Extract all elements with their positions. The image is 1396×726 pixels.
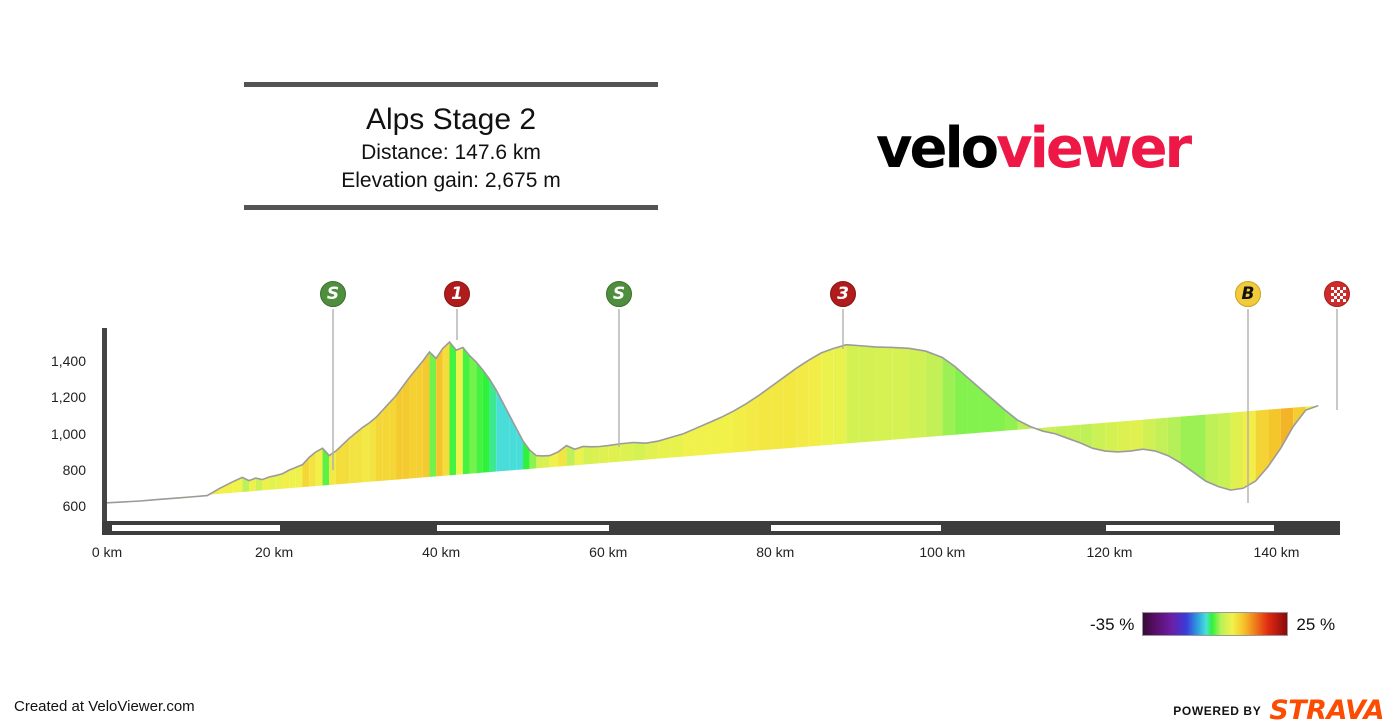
gradient-slice bbox=[909, 322, 926, 521]
header-rule-bottom bbox=[244, 205, 658, 210]
elevation-profile-svg bbox=[0, 270, 1396, 570]
gradient-slice bbox=[575, 322, 583, 521]
gradient-slice bbox=[456, 322, 463, 521]
distance-label: Distance: 147.6 km bbox=[244, 139, 658, 167]
gradient-slice bbox=[423, 322, 430, 521]
gradient-slice bbox=[107, 322, 124, 521]
marker-label: 3 bbox=[837, 284, 849, 304]
gradient-slice bbox=[124, 322, 141, 521]
strava-wordmark: STRAVA bbox=[1269, 697, 1384, 724]
gradient-slice bbox=[809, 322, 822, 521]
marker-label: 1 bbox=[451, 284, 463, 304]
marker-sprint-2[interactable]: S bbox=[606, 281, 632, 307]
gradient-slice bbox=[416, 322, 423, 521]
gradient-slice bbox=[566, 322, 574, 521]
gradient-slice bbox=[980, 322, 993, 521]
gradient-slice bbox=[683, 322, 696, 521]
gradient-slice bbox=[191, 322, 208, 521]
gradient-slice bbox=[356, 322, 363, 521]
logo-velo-text: velo bbox=[876, 116, 996, 181]
marker-climb-3[interactable]: 3 bbox=[830, 281, 856, 307]
logo-viewer-text: viewer bbox=[996, 116, 1189, 181]
gradient-slice bbox=[249, 322, 256, 521]
gradient-slice bbox=[523, 322, 530, 521]
gradient-slice bbox=[140, 322, 157, 521]
strava-attribution: POWERED BY STRAVA bbox=[1173, 697, 1384, 724]
gradient-legend: -35 % 25 % bbox=[1090, 611, 1335, 637]
elevation-profile-chart: 6008001,0001,2001,400 0 km20 km40 km60 k… bbox=[0, 270, 1396, 570]
gradient-slice bbox=[1206, 322, 1219, 521]
gradient-slice bbox=[349, 322, 356, 521]
powered-by-label: POWERED BY bbox=[1173, 704, 1261, 718]
marker-sprint-1[interactable]: S bbox=[320, 281, 346, 307]
gradient-slice bbox=[1043, 322, 1056, 521]
gradient-slice bbox=[1281, 322, 1294, 521]
veloviewer-logo: veloviewer bbox=[876, 121, 1189, 177]
marker-climb-1[interactable]: 1 bbox=[444, 281, 470, 307]
gradient-slice bbox=[242, 322, 249, 521]
x-axis-tick-label: 60 km bbox=[589, 545, 627, 559]
page-title: Alps Stage 2 bbox=[244, 101, 658, 139]
gradient-slice bbox=[1180, 322, 1193, 521]
gradient-slice bbox=[671, 322, 684, 521]
gradient-slice bbox=[256, 322, 263, 521]
gradient-slice bbox=[343, 322, 350, 521]
header-block: Alps Stage 2 Distance: 147.6 km Elevatio… bbox=[244, 82, 658, 210]
x-axis-tick-label: 120 km bbox=[1086, 545, 1132, 559]
marker-label: S bbox=[327, 284, 339, 304]
legend-min-label: -35 % bbox=[1090, 616, 1134, 633]
gradient-slice bbox=[1306, 322, 1319, 521]
gradient-slice bbox=[1231, 322, 1244, 521]
x-axis-tick-label: 140 km bbox=[1254, 545, 1300, 559]
x-axis-tick-label: 40 km bbox=[422, 545, 460, 559]
gradient-slice bbox=[269, 322, 276, 521]
gradient-slice bbox=[633, 322, 646, 521]
gradient-slice bbox=[1318, 322, 1329, 521]
gradient-slice bbox=[1118, 322, 1131, 521]
gradient-slice bbox=[784, 322, 797, 521]
gradient-slice bbox=[276, 322, 283, 521]
gradient-slice bbox=[1143, 322, 1156, 521]
gradient-slice bbox=[1068, 322, 1081, 521]
created-at-label: Created at VeloViewer.com bbox=[14, 699, 195, 714]
y-axis-tick-label: 1,000 bbox=[20, 427, 86, 441]
gradient-slice bbox=[289, 322, 296, 521]
gradient-slice bbox=[302, 322, 309, 521]
y-axis-tick-label: 1,200 bbox=[20, 390, 86, 404]
gradient-slice bbox=[992, 322, 1005, 521]
gradient-slice bbox=[376, 322, 383, 521]
gradient-slice bbox=[759, 322, 772, 521]
gradient-slice bbox=[1293, 322, 1306, 521]
gradient-slice bbox=[490, 322, 497, 521]
gradient-slice bbox=[658, 322, 671, 521]
gradient-slice bbox=[1155, 322, 1168, 521]
header-text-group: Alps Stage 2 Distance: 147.6 km Elevatio… bbox=[244, 87, 658, 205]
gradient-slice bbox=[450, 322, 457, 521]
gradient-slice bbox=[262, 322, 269, 521]
gradient-slice bbox=[876, 322, 893, 521]
legend-gradient-bar bbox=[1142, 612, 1288, 636]
gradient-slice bbox=[1105, 322, 1118, 521]
gradient-slice bbox=[316, 322, 323, 521]
gradient-slice bbox=[336, 322, 343, 521]
gradient-slice bbox=[396, 322, 403, 521]
gradient-slice bbox=[796, 322, 809, 521]
gradient-slice bbox=[1243, 322, 1256, 521]
gradient-slice bbox=[721, 322, 734, 521]
marker-finish[interactable] bbox=[1324, 281, 1350, 307]
gradient-slice bbox=[834, 322, 847, 521]
gradient-slice bbox=[746, 322, 759, 521]
gradient-slice bbox=[1256, 322, 1269, 521]
legend-max-label: 25 % bbox=[1296, 616, 1335, 633]
gradient-slice bbox=[536, 322, 543, 521]
elevation-gain-label: Elevation gain: 2,675 m bbox=[244, 167, 658, 195]
gradient-slice bbox=[436, 322, 443, 521]
gradient-slice bbox=[470, 322, 477, 521]
gradient-slice bbox=[443, 322, 450, 521]
gradient-slice bbox=[942, 322, 955, 521]
marker-label: S bbox=[613, 284, 625, 304]
gradient-slice bbox=[309, 322, 316, 521]
y-axis-tick-label: 600 bbox=[20, 499, 86, 513]
gradient-slice bbox=[550, 322, 558, 521]
gradient-slice bbox=[383, 322, 390, 521]
x-axis-tick-label: 0 km bbox=[92, 545, 122, 559]
gradient-slice bbox=[409, 322, 416, 521]
gradient-slice bbox=[1080, 322, 1093, 521]
gradient-slice bbox=[1030, 322, 1043, 521]
gradient-slice bbox=[496, 322, 503, 521]
gradient-slice bbox=[1130, 322, 1143, 521]
gradient-slice bbox=[1005, 322, 1018, 521]
gradient-slice bbox=[323, 322, 330, 521]
x-axis-tick-label: 20 km bbox=[255, 545, 293, 559]
gradient-slice bbox=[476, 322, 483, 521]
gradient-slice bbox=[503, 322, 510, 521]
gradient-slices bbox=[107, 322, 1340, 521]
gradient-slice bbox=[558, 322, 566, 521]
gradient-slice bbox=[859, 322, 876, 521]
gradient-slice bbox=[1329, 322, 1340, 521]
gradient-slice bbox=[157, 322, 174, 521]
gradient-slice bbox=[232, 322, 242, 521]
gradient-slice bbox=[1268, 322, 1281, 521]
gradient-slice bbox=[483, 322, 490, 521]
gradient-slice bbox=[220, 322, 233, 521]
gradient-slice bbox=[1168, 322, 1181, 521]
gradient-slice bbox=[955, 322, 968, 521]
gradient-slice bbox=[282, 322, 289, 521]
x-axis-tick-label: 100 km bbox=[919, 545, 965, 559]
gradient-slice bbox=[389, 322, 396, 521]
gradient-slice bbox=[734, 322, 747, 521]
x-axis-tick-label: 80 km bbox=[756, 545, 794, 559]
gradient-slice bbox=[621, 322, 634, 521]
gradient-slice bbox=[646, 322, 659, 521]
gradient-slice bbox=[846, 322, 859, 521]
gradient-slice bbox=[1055, 322, 1068, 521]
gradient-slice bbox=[967, 322, 980, 521]
y-axis-tick-label: 1,400 bbox=[20, 354, 86, 368]
marker-bonus-1[interactable]: B bbox=[1235, 281, 1261, 307]
gradient-slice bbox=[1218, 322, 1231, 521]
gradient-slice bbox=[174, 322, 191, 521]
y-axis-spine bbox=[102, 328, 107, 521]
gradient-slice bbox=[543, 322, 550, 521]
gradient-slice bbox=[530, 322, 537, 521]
gradient-slice bbox=[771, 322, 784, 521]
gradient-slice bbox=[1193, 322, 1206, 521]
y-axis-tick-label: 800 bbox=[20, 463, 86, 477]
gradient-slice bbox=[403, 322, 410, 521]
gradient-slice bbox=[600, 322, 608, 521]
gradient-slice bbox=[892, 322, 909, 521]
marker-label: B bbox=[1242, 284, 1255, 304]
gradient-slice bbox=[583, 322, 591, 521]
gradient-slice bbox=[516, 322, 523, 521]
gradient-slice bbox=[1093, 322, 1106, 521]
gradient-slice bbox=[696, 322, 709, 521]
gradient-slice bbox=[296, 322, 303, 521]
gradient-slice bbox=[363, 322, 370, 521]
gradient-slice bbox=[592, 322, 600, 521]
